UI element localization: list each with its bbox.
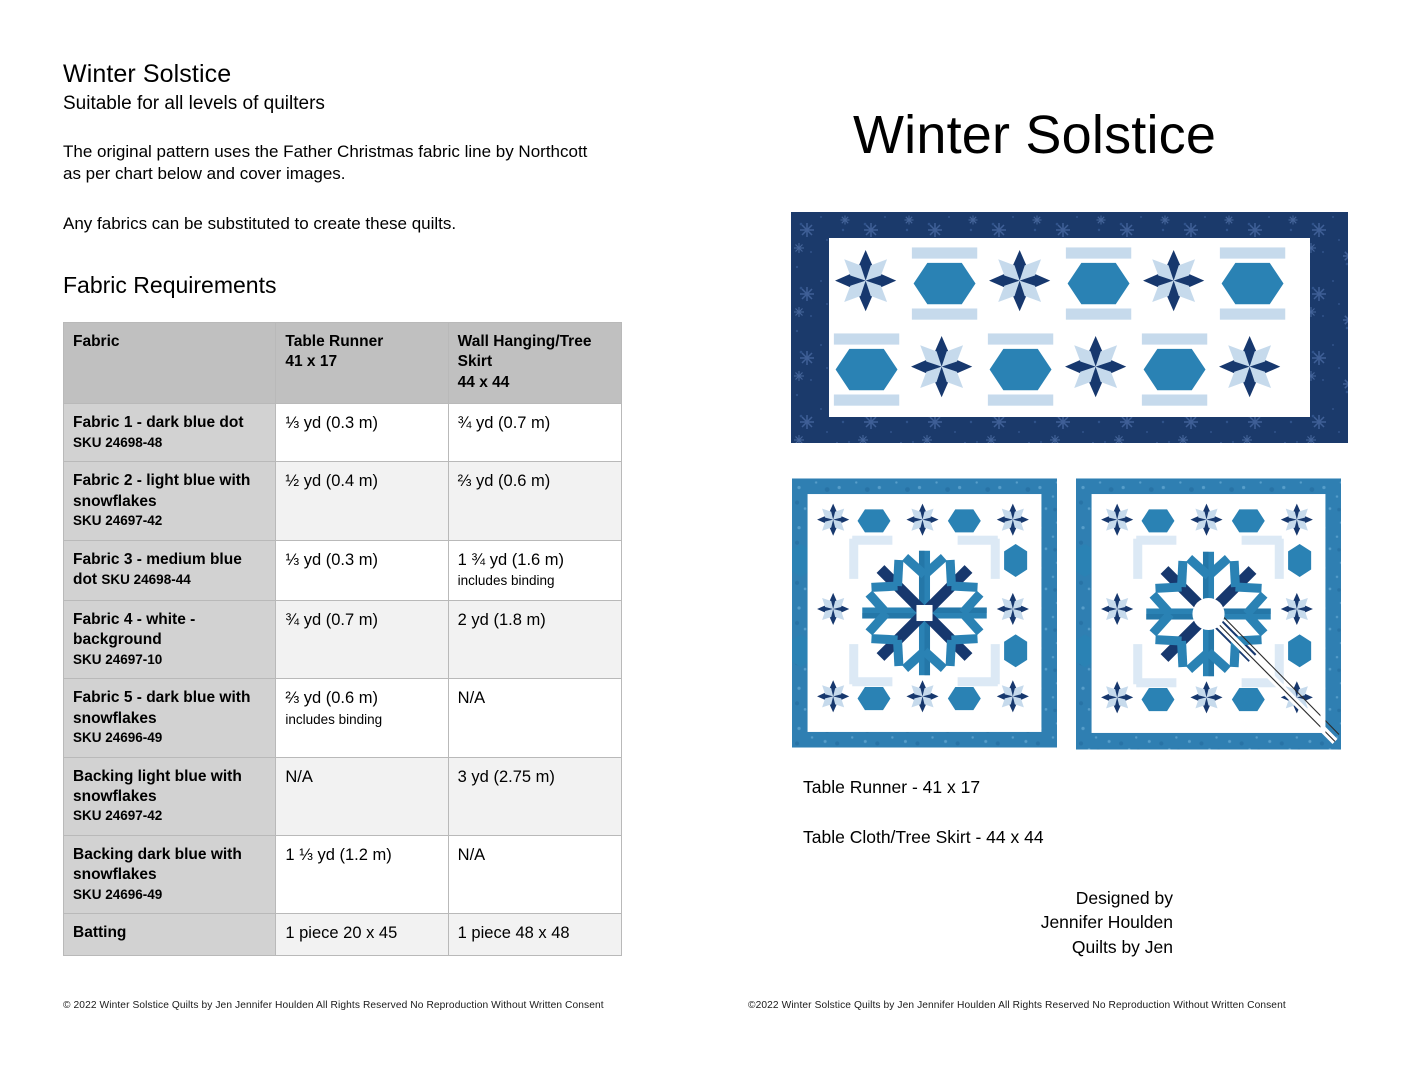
cell-wall-hanging-amount: ⅔ yd (0.6 m) [448,462,621,540]
cell-table-runner-amount: 1 ⅓ yd (1.2 m) [276,835,448,913]
pattern-cover-page: Winter Solstice Suitable for all levels … [0,0,1408,1088]
cell-table-runner-amount: 1 piece 20 x 45 [276,914,448,955]
fabric-sku: SKU 24698-48 [73,434,266,452]
table-row: Batting1 piece 20 x 451 piece 48 x 48 [64,914,622,955]
amount-note: includes binding [285,711,438,729]
table-row: Fabric 2 - light blue with snowflakesSKU… [64,462,622,540]
fabric-sku: SKU 24696-49 [73,886,266,904]
footer-copyright-right: ©2022 Winter Solstice Quilts by Jen Jenn… [748,1000,1286,1011]
cell-table-runner-amount: ¾ yd (0.7 m) [276,601,448,679]
intro-paragraph-2: Any fabrics can be substituted to create… [63,213,608,236]
table-row: Backing dark blue with snowflakesSKU 246… [64,835,622,913]
footer-copyright-left: © 2022 Winter Solstice Quilts by Jen Jen… [63,1000,604,1011]
column-header-fabric: Fabric [64,323,276,404]
cell-fabric-name: Backing light blue with snowflakesSKU 24… [64,757,276,835]
cell-fabric-name: Fabric 4 - white - backgroundSKU 24697-1… [64,601,276,679]
cell-fabric-name: Fabric 5 - dark blue with snowflakesSKU … [64,679,276,757]
fabric-sku: SKU 24697-42 [73,512,266,530]
left-info-column: Winter Solstice Suitable for all levels … [63,60,663,299]
table-row: Fabric 4 - white - backgroundSKU 24697-1… [64,601,622,679]
caption-table-cloth: Table Cloth/Tree Skirt - 44 x 44 [803,827,1044,848]
caption-table-runner: Table Runner - 41 x 17 [803,777,980,798]
table-header-row: Fabric Table Runner 41 x 17 Wall Hanging… [64,323,622,404]
column-header-wall-hanging-label: Wall Hanging/Tree Skirt [458,333,592,370]
column-header-wall-hanging-size: 44 x 44 [458,374,510,391]
wall-hanging-quilt-image [792,478,1057,748]
credit-designed-by: Designed by [1008,886,1173,910]
cell-fabric-name: Backing dark blue with snowflakesSKU 246… [64,835,276,913]
column-header-wall-hanging: Wall Hanging/Tree Skirt 44 x 44 [448,323,621,404]
fabric-sku: SKU 24696-49 [73,729,266,747]
section-title-fabric-requirements: Fabric Requirements [63,272,663,299]
cell-table-runner-amount: ⅔ yd (0.6 m)includes binding [276,679,448,757]
cell-wall-hanging-amount: 1 ¾ yd (1.6 m)includes binding [448,540,621,601]
page-subtitle: Suitable for all levels of quilters [63,92,663,116]
intro-paragraph-1: The original pattern uses the Father Chr… [63,141,608,187]
cell-wall-hanging-amount: ¾ yd (0.7 m) [448,404,621,462]
cell-wall-hanging-amount: N/A [448,835,621,913]
table-row: Backing light blue with snowflakesSKU 24… [64,757,622,835]
cell-fabric-name: Batting [64,914,276,955]
column-header-table-runner-size: 41 x 17 [285,353,337,370]
designer-credits: Designed by Jennifer Houlden Quilts by J… [1008,886,1173,959]
cell-fabric-name: Fabric 3 - medium blue dot SKU 24698-44 [64,540,276,601]
cell-table-runner-amount: ⅓ yd (0.3 m) [276,404,448,462]
tree-skirt-quilt-image [1076,478,1341,750]
cell-fabric-name: Fabric 1 - dark blue dotSKU 24698-48 [64,404,276,462]
right-cover-column: Winter Solstice [748,0,1368,1088]
column-header-fabric-label: Fabric [73,333,120,350]
credit-company: Quilts by Jen [1008,935,1173,959]
table-runner-quilt-image [791,212,1348,443]
column-header-table-runner: Table Runner 41 x 17 [276,323,448,404]
cell-table-runner-amount: N/A [276,757,448,835]
cell-wall-hanging-amount: 2 yd (1.8 m) [448,601,621,679]
cover-title: Winter Solstice [853,104,1216,166]
column-header-table-runner-label: Table Runner [285,333,383,350]
cell-table-runner-amount: ⅓ yd (0.3 m) [276,540,448,601]
page-title: Winter Solstice [63,60,663,89]
table-row: Fabric 5 - dark blue with snowflakesSKU … [64,679,622,757]
fabric-sku: SKU 24697-10 [73,651,266,669]
fabric-requirements-table: Fabric Table Runner 41 x 17 Wall Hanging… [63,322,622,956]
table-body: Fabric 1 - dark blue dotSKU 24698-48⅓ yd… [64,404,622,955]
cell-table-runner-amount: ½ yd (0.4 m) [276,462,448,540]
cell-wall-hanging-amount: N/A [448,679,621,757]
fabric-sku: SKU 24697-42 [73,807,266,825]
table-row: Fabric 1 - dark blue dotSKU 24698-48⅓ yd… [64,404,622,462]
cell-fabric-name: Fabric 2 - light blue with snowflakesSKU… [64,462,276,540]
table-row: Fabric 3 - medium blue dot SKU 24698-44⅓… [64,540,622,601]
amount-note: includes binding [458,572,612,590]
cell-wall-hanging-amount: 1 piece 48 x 48 [448,914,621,955]
credit-designer-name: Jennifer Houlden [1008,910,1173,934]
cell-wall-hanging-amount: 3 yd (2.75 m) [448,757,621,835]
fabric-sku: SKU 24698-44 [101,572,190,587]
